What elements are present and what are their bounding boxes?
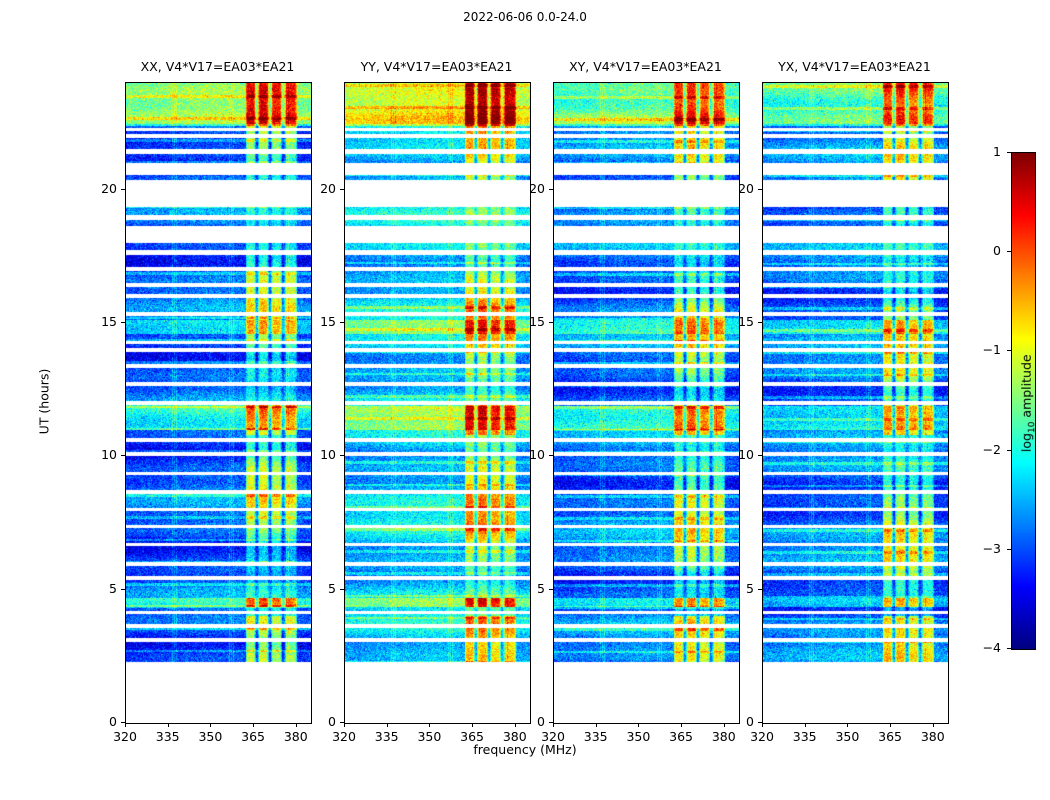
x-tick-mark (805, 723, 806, 727)
spectrogram-yx (763, 83, 948, 723)
y-tick-label: 0 (499, 714, 545, 729)
x-tick-mark (253, 723, 254, 727)
x-tick-mark (933, 723, 934, 727)
y-tick-mark (121, 589, 125, 590)
y-tick-label: 10 (290, 447, 336, 462)
y-tick-label: 15 (499, 314, 545, 329)
y-tick-label: 20 (499, 181, 545, 196)
y-tick-label: 0 (708, 714, 754, 729)
x-tick-mark (429, 723, 430, 727)
x-tick-mark (847, 723, 848, 727)
y-tick-label: 15 (708, 314, 754, 329)
y-tick-label: 5 (71, 581, 117, 596)
y-tick-label: 20 (290, 181, 336, 196)
x-tick-mark (762, 723, 763, 727)
x-tick-mark (681, 723, 682, 727)
spectrogram-xx (126, 83, 311, 723)
x-tick-mark (168, 723, 169, 727)
colorbar-tick-mark (1007, 549, 1011, 550)
y-tick-mark (340, 455, 344, 456)
y-tick-mark (758, 189, 762, 190)
y-tick-mark (549, 189, 553, 190)
y-tick-mark (758, 455, 762, 456)
colorbar-tick-mark (1007, 648, 1011, 649)
panel-title-yx: YX, V4*V17=EA03*EA21 (695, 59, 1015, 74)
y-tick-mark (549, 722, 553, 723)
x-tick-mark (387, 723, 388, 727)
y-tick-label: 0 (290, 714, 336, 729)
colorbar-tick-mark (1007, 450, 1011, 451)
panel-yx[interactable] (762, 82, 949, 724)
y-tick-label: 15 (290, 314, 336, 329)
panel-yy[interactable] (344, 82, 531, 724)
y-tick-mark (758, 589, 762, 590)
y-tick-label: 5 (290, 581, 336, 596)
y-tick-label: 0 (71, 714, 117, 729)
colorbar-tick-label: −3 (961, 541, 1001, 556)
colorbar-tick-label: −2 (961, 442, 1001, 457)
colorbar-tick-mark (1007, 152, 1011, 153)
y-tick-mark (121, 722, 125, 723)
x-tick-mark (890, 723, 891, 727)
x-tick-mark (596, 723, 597, 727)
spectrogram-xy (554, 83, 739, 723)
x-tick-mark (472, 723, 473, 727)
x-tick-mark (344, 723, 345, 727)
waterfall-figure: 2022-06-06 0.0-24.0 XX, V4*V17=EA03*EA21… (0, 0, 1050, 800)
spectrogram-yy (345, 83, 530, 723)
y-tick-mark (549, 455, 553, 456)
y-tick-mark (121, 322, 125, 323)
y-tick-mark (340, 189, 344, 190)
colorbar-tick-label: −4 (961, 640, 1001, 655)
panel-xy[interactable] (553, 82, 740, 724)
y-tick-mark (121, 189, 125, 190)
colorbar-label: log10 amplitude (1019, 323, 1038, 483)
y-tick-label: 10 (708, 447, 754, 462)
x-tick-mark (125, 723, 126, 727)
y-tick-label: 20 (71, 181, 117, 196)
panel-xx[interactable] (125, 82, 312, 724)
colorbar-tick-label: 0 (961, 243, 1001, 258)
y-tick-mark (758, 322, 762, 323)
y-tick-label: 5 (499, 581, 545, 596)
colorbar-tick-label: 1 (961, 144, 1001, 159)
y-tick-label: 10 (71, 447, 117, 462)
y-tick-label: 15 (71, 314, 117, 329)
y-tick-mark (758, 722, 762, 723)
y-tick-label: 10 (499, 447, 545, 462)
x-tick-mark (210, 723, 211, 727)
x-tick-mark (638, 723, 639, 727)
y-axis-label: UT (hours) (37, 342, 52, 462)
y-tick-label: 5 (708, 581, 754, 596)
x-tick-mark (553, 723, 554, 727)
y-tick-mark (340, 589, 344, 590)
colorbar-tick-mark (1007, 251, 1011, 252)
x-axis-label: frequency (MHz) (0, 742, 1050, 757)
y-tick-mark (549, 589, 553, 590)
figure-suptitle: 2022-06-06 0.0-24.0 (0, 10, 1050, 24)
y-tick-mark (340, 722, 344, 723)
y-tick-label: 20 (708, 181, 754, 196)
y-tick-mark (549, 322, 553, 323)
y-tick-mark (340, 322, 344, 323)
y-tick-mark (121, 455, 125, 456)
colorbar-tick-label: −1 (961, 342, 1001, 357)
colorbar-tick-mark (1007, 350, 1011, 351)
